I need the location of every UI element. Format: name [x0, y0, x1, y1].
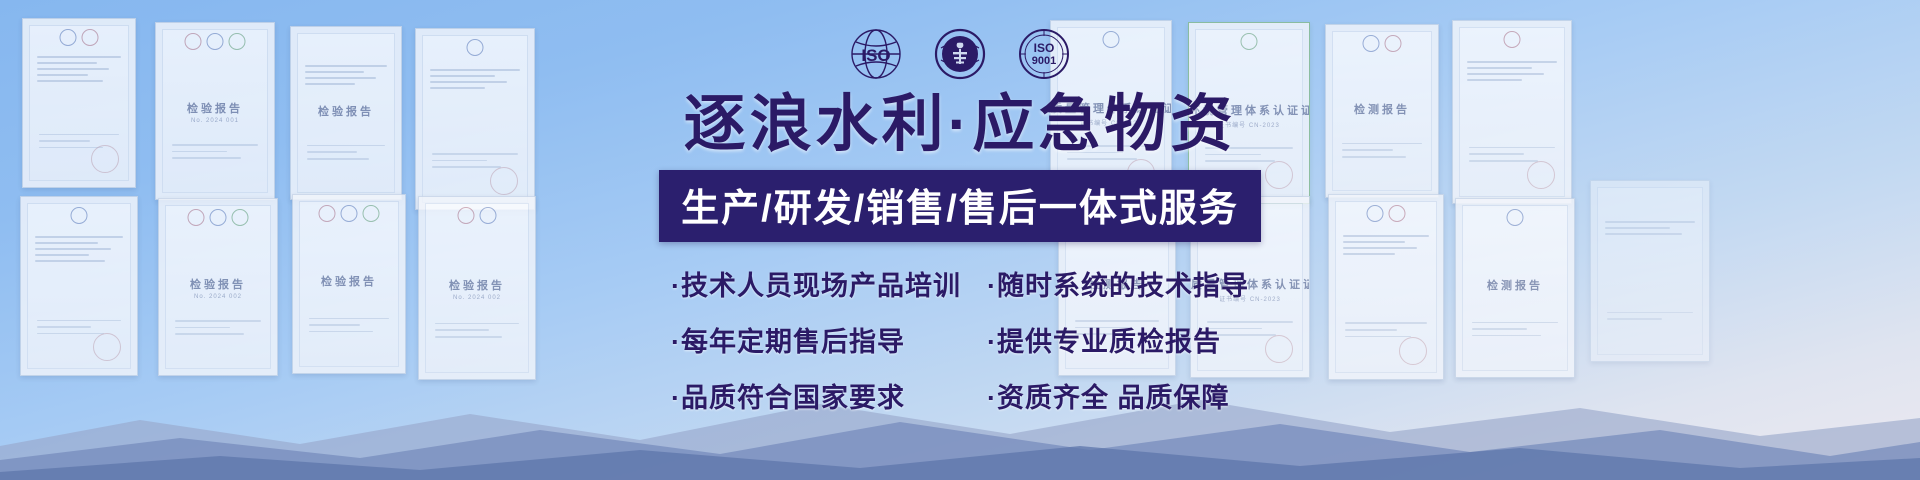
cqc-emblem-logo — [932, 26, 988, 82]
feature-list: ·技术人员现场产品培训 ·随时系统的技术指导 ·每年定期售后指导 ·提供专业质检… — [671, 264, 1249, 415]
feature-item: ·随时系统的技术指导 — [987, 264, 1249, 303]
feature-item: ·技术人员现场产品培训 — [671, 264, 961, 303]
certification-logo-row: ISO — [848, 26, 1072, 82]
iso-logo-text: ISO — [861, 46, 890, 65]
feature-item: ·品质符合国家要求 — [671, 376, 961, 415]
service-subtitle-band: 生产/研发/销售/售后一体式服务 — [659, 170, 1261, 242]
iso-globe-logo: ISO — [848, 26, 904, 82]
feature-item: ·资质齐全 品质保障 — [987, 376, 1249, 415]
promo-banner: 检验报告 No. 2024 001 检验报告 质量管理体系认证证书 证书编号 C… — [0, 0, 1920, 480]
iso9001-logo: ISO 9001 — [1016, 26, 1072, 82]
feature-item: ·提供专业质检报告 — [987, 320, 1249, 359]
page-title: 逐浪水利·应急物资 — [684, 94, 1237, 156]
feature-item: ·每年定期售后指导 — [671, 320, 961, 359]
svg-text:9001: 9001 — [1032, 55, 1056, 67]
banner-content: ISO — [0, 0, 1920, 480]
svg-text:ISO: ISO — [1034, 41, 1055, 55]
